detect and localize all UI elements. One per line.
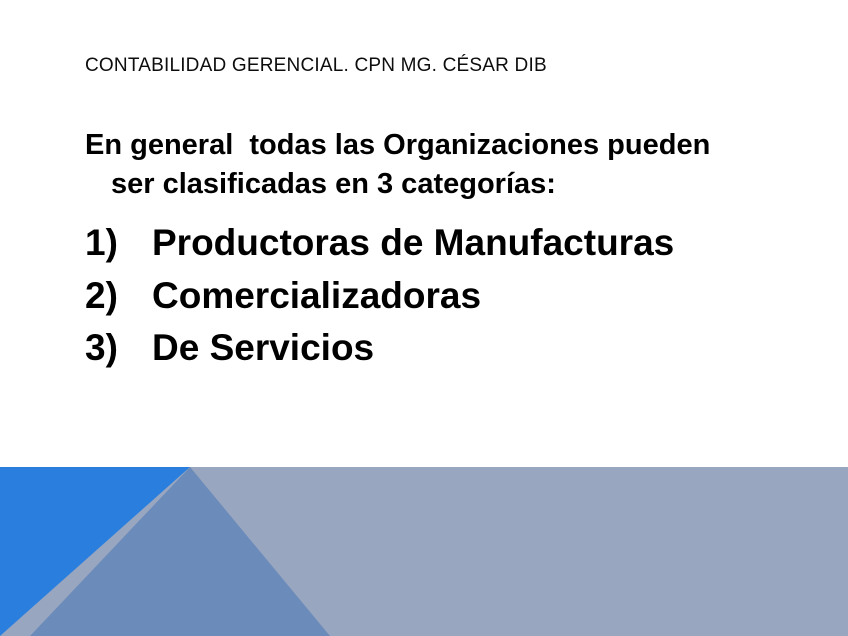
list-item-label: Comercializadoras <box>152 270 785 323</box>
list-item-label: Productoras de Manufacturas <box>152 217 785 270</box>
list-item-marker: 2) <box>85 270 152 323</box>
list-item: 2) Comercializadoras <box>85 270 785 323</box>
page-title: CONTABILIDAD GERENCIAL. CPN MG. CÉSAR DI… <box>85 55 785 78</box>
footer-decoration <box>0 467 848 636</box>
list-item: 1) Productoras de Manufacturas <box>85 217 785 270</box>
intro-paragraph: En general todas las Organizaciones pued… <box>85 126 785 203</box>
intro-line-2: ser clasificadas en 3 categorías: <box>85 165 785 204</box>
intro-line-1: En general todas las Organizaciones pued… <box>85 129 710 161</box>
slide: CONTABILIDAD GERENCIAL. CPN MG. CÉSAR DI… <box>0 0 848 636</box>
list-item: 3) De Servicios <box>85 322 785 375</box>
list-item-label: De Servicios <box>152 322 785 375</box>
footer-triangles-graphic <box>0 467 848 636</box>
slide-body: En general todas las Organizaciones pued… <box>85 126 785 375</box>
list-item-marker: 3) <box>85 322 152 375</box>
list-item-marker: 1) <box>85 217 152 270</box>
category-list: 1) Productoras de Manufacturas 2) Comerc… <box>85 217 785 375</box>
